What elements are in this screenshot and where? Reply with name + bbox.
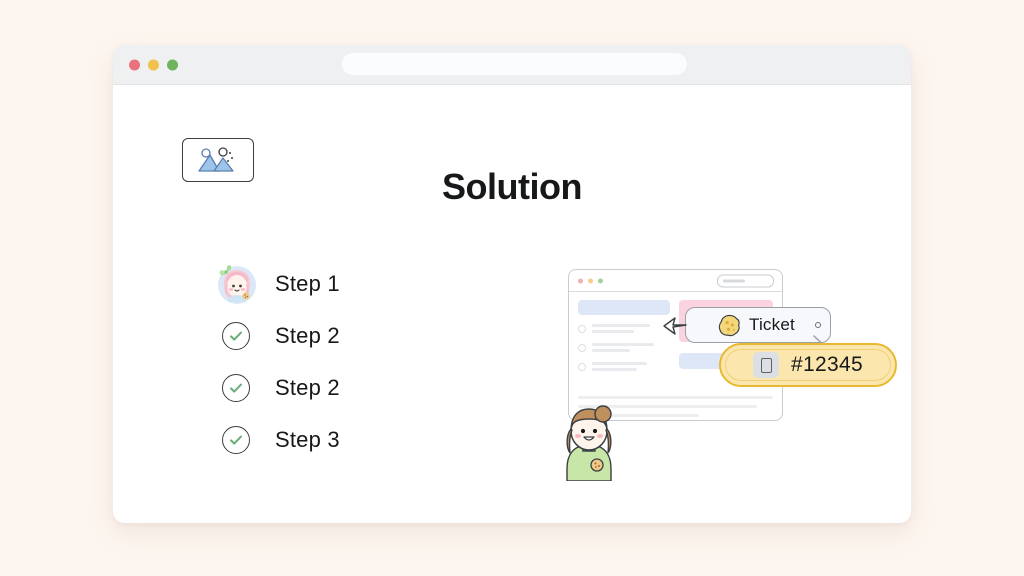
step-marker-check <box>217 317 255 355</box>
step-label: Step 3 <box>275 427 340 453</box>
mockup-minimize-dot <box>588 278 593 283</box>
slide-canvas: Solution <box>113 85 911 523</box>
mockup-radio-icon <box>578 363 586 371</box>
avatar-icon <box>214 262 258 306</box>
mockup-list-item <box>578 362 670 371</box>
mockup-traffic-lights <box>578 278 603 283</box>
check-circle-icon <box>222 426 250 454</box>
browser-window: Solution <box>113 45 911 523</box>
image-placeholder-card <box>182 138 254 182</box>
traffic-lights <box>129 59 178 70</box>
mockup-list-item <box>578 324 670 333</box>
browser-titlebar <box>113 45 911 85</box>
step-item[interactable]: Step 2 <box>217 317 340 355</box>
mockup-text-lines <box>592 324 650 333</box>
ticket-chip-label: Ticket <box>749 315 795 335</box>
ticket-id-badge[interactable]: #12345 <box>719 343 897 387</box>
mockup-address-bar <box>717 274 774 287</box>
image-placeholder-icon <box>195 146 241 174</box>
check-circle-icon <box>222 374 250 402</box>
person-illustration <box>553 405 625 481</box>
steps-list: Step 1 Step 2 <box>217 265 340 459</box>
step-label: Step 2 <box>275 375 340 401</box>
id-card-icon <box>753 352 779 378</box>
checkmark-icon <box>228 380 244 396</box>
step-marker-check <box>217 421 255 459</box>
check-circle-icon <box>222 322 250 350</box>
mockup-list <box>578 324 670 371</box>
minimize-window-button[interactable] <box>148 59 159 70</box>
step-label: Step 2 <box>275 323 340 349</box>
step-marker-avatar <box>217 265 255 303</box>
mockup-content <box>569 292 782 308</box>
mockup-maximize-dot <box>598 278 603 283</box>
cookie-icon <box>718 314 741 337</box>
close-window-button[interactable] <box>129 59 140 70</box>
mockup-left-column <box>578 300 670 371</box>
step-item[interactable]: Step 1 <box>217 265 340 303</box>
mockup-radio-icon <box>578 344 586 352</box>
mockup-address-placeholder <box>723 279 745 282</box>
ticket-chip-handle[interactable] <box>815 322 821 328</box>
ticket-chip[interactable]: Ticket <box>685 307 831 343</box>
mockup-titlebar <box>569 270 782 292</box>
mockup-close-dot <box>578 278 583 283</box>
mockup-radio-icon <box>578 325 586 333</box>
mockup-text-lines <box>592 343 654 352</box>
mockup-list-item <box>578 343 670 352</box>
mockup-text-lines <box>592 362 647 371</box>
pointer-arrow-icon <box>662 314 692 338</box>
step-label: Step 1 <box>275 271 340 297</box>
step-item[interactable]: Step 2 <box>217 369 340 407</box>
ticket-id-label: #12345 <box>791 353 863 377</box>
checkmark-icon <box>228 432 244 448</box>
mockup-header-block <box>578 300 670 315</box>
step-item[interactable]: Step 3 <box>217 421 340 459</box>
maximize-window-button[interactable] <box>167 59 178 70</box>
address-bar-input[interactable] <box>342 53 687 75</box>
step-marker-check <box>217 369 255 407</box>
checkmark-icon <box>228 328 244 344</box>
